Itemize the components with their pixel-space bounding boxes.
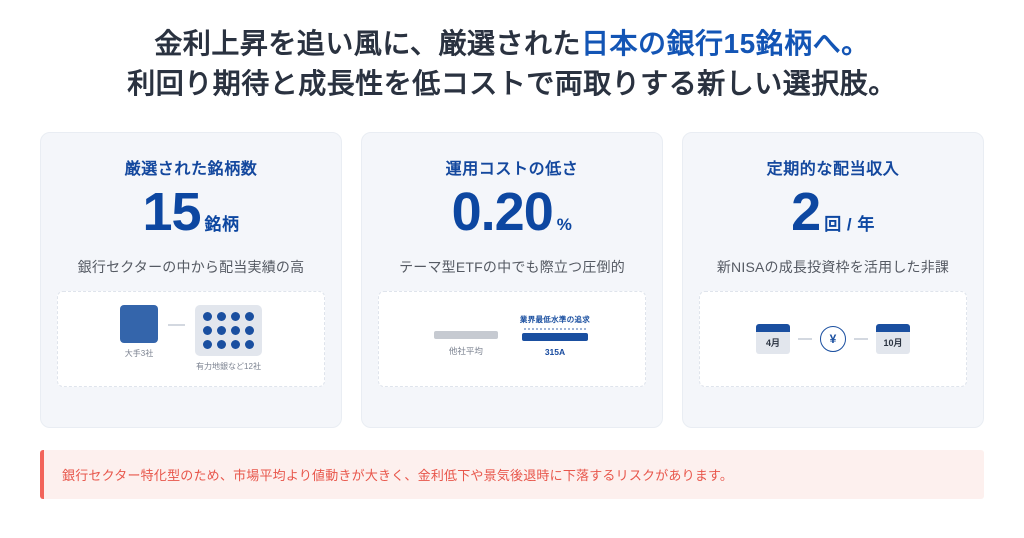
feature-card-cost[interactable]: 運用コストの低さ 0.20 % テーマ型ETFの中でも際立つ圧倒的 他社平均 業… bbox=[361, 132, 663, 428]
bank-dot-icon bbox=[231, 326, 240, 335]
metric-unit: % bbox=[557, 215, 573, 235]
connector-line bbox=[798, 338, 812, 340]
feature-card-stock-count[interactable]: 厳選された銘柄数 15 銘柄 銀行セクターの中から配当実績の高 大手3社 bbox=[40, 132, 342, 428]
feature-card-dividend[interactable]: 定期的な配当収入 2 回 / 年 新NISAの成長投資枠を活用した非課 4月 ¥… bbox=[682, 132, 984, 428]
headline-accent-text: 日本の銀行15銘柄へ。 bbox=[581, 28, 870, 59]
connector-line bbox=[854, 338, 868, 340]
card-title: 厳選された銘柄数 bbox=[125, 155, 258, 179]
card-description: 銀行セクターの中から配当実績の高 bbox=[57, 257, 325, 277]
metric-unit: 回 / 年 bbox=[824, 210, 875, 235]
card-illustration-stock-count: 大手3社 bbox=[57, 291, 325, 387]
calendar-month-label: 10月 bbox=[876, 332, 910, 354]
dotted-guide-line bbox=[524, 328, 586, 330]
card-metric: 2 回 / 年 bbox=[791, 185, 875, 247]
card-illustration-dividend: 4月 ¥ 10月 bbox=[699, 291, 967, 387]
bank-dot-icon bbox=[231, 340, 240, 349]
competitor-bar-group: 他社平均 bbox=[434, 331, 498, 357]
bank-dots-grid bbox=[195, 305, 262, 356]
calendar-icon-april: 4月 bbox=[756, 324, 790, 354]
bank-dot-icon bbox=[217, 326, 226, 335]
card-illustration-cost: 他社平均 業界最低水準の追求 315A bbox=[378, 291, 646, 387]
regional-banks-label: 有力地銀など12社 bbox=[196, 361, 261, 372]
major-banks-group: 大手3社 bbox=[120, 305, 158, 359]
bank-dot-icon bbox=[245, 326, 254, 335]
card-description: 新NISAの成長投資枠を活用した非課 bbox=[699, 257, 967, 277]
risk-disclaimer: 銀行セクター特化型のため、市場平均より値動きが大きく、金利低下や景気後退時に下落… bbox=[40, 450, 984, 499]
card-title: 定期的な配当収入 bbox=[767, 155, 900, 179]
card-metric: 0.20 % bbox=[452, 185, 573, 247]
headline-line-1: 金利上昇を追い風に、厳選された日本の銀行15銘柄へ。 bbox=[0, 24, 1024, 64]
feature-cards-row: 厳選された銘柄数 15 銘柄 銀行セクターの中から配当実績の高 大手3社 bbox=[0, 104, 1024, 428]
metric-value: 2 bbox=[791, 185, 820, 239]
bank-dot-icon bbox=[245, 340, 254, 349]
card-title: 運用コストの低さ bbox=[446, 155, 579, 179]
headline-line-1-text: 金利上昇を追い風に、厳選された bbox=[154, 28, 581, 59]
metric-unit: 銘柄 bbox=[205, 210, 240, 235]
regional-banks-group: 有力地銀など12社 bbox=[195, 305, 262, 372]
headline-line-2: 利回り期待と成長性を低コストで両取りする新しい選択肢。 bbox=[0, 64, 1024, 104]
major-banks-label: 大手3社 bbox=[125, 348, 153, 359]
bank-dot-icon bbox=[217, 312, 226, 321]
connector-line bbox=[168, 324, 185, 326]
calendar-header-bar bbox=[756, 324, 790, 332]
bank-dot-icon bbox=[231, 312, 240, 321]
bank-dot-icon bbox=[245, 312, 254, 321]
page-headline: 金利上昇を追い風に、厳選された日本の銀行15銘柄へ。 利回り期待と成長性を低コス… bbox=[0, 0, 1024, 104]
product-bar-group: 業界最低水準の追求 315A bbox=[520, 314, 590, 357]
bank-dot-icon bbox=[217, 340, 226, 349]
competitor-bar bbox=[434, 331, 498, 339]
card-metric: 15 銘柄 bbox=[142, 185, 239, 247]
bank-dot-icon bbox=[203, 312, 212, 321]
product-bar bbox=[522, 333, 588, 341]
calendar-header-bar bbox=[876, 324, 910, 332]
calendar-icon-october: 10月 bbox=[876, 324, 910, 354]
yen-icon: ¥ bbox=[820, 326, 846, 352]
metric-value: 15 bbox=[142, 185, 200, 239]
competitor-bar-label: 他社平均 bbox=[449, 345, 483, 357]
bank-dot-icon bbox=[203, 326, 212, 335]
product-bar-label: 315A bbox=[545, 347, 565, 357]
metric-value: 0.20 bbox=[452, 185, 553, 239]
calendar-month-label: 4月 bbox=[756, 332, 790, 354]
bank-dot-icon bbox=[203, 340, 212, 349]
bank-block-icon bbox=[120, 305, 158, 343]
lowest-cost-caption: 業界最低水準の追求 bbox=[520, 314, 590, 325]
card-description: テーマ型ETFの中でも際立つ圧倒的 bbox=[378, 257, 646, 277]
